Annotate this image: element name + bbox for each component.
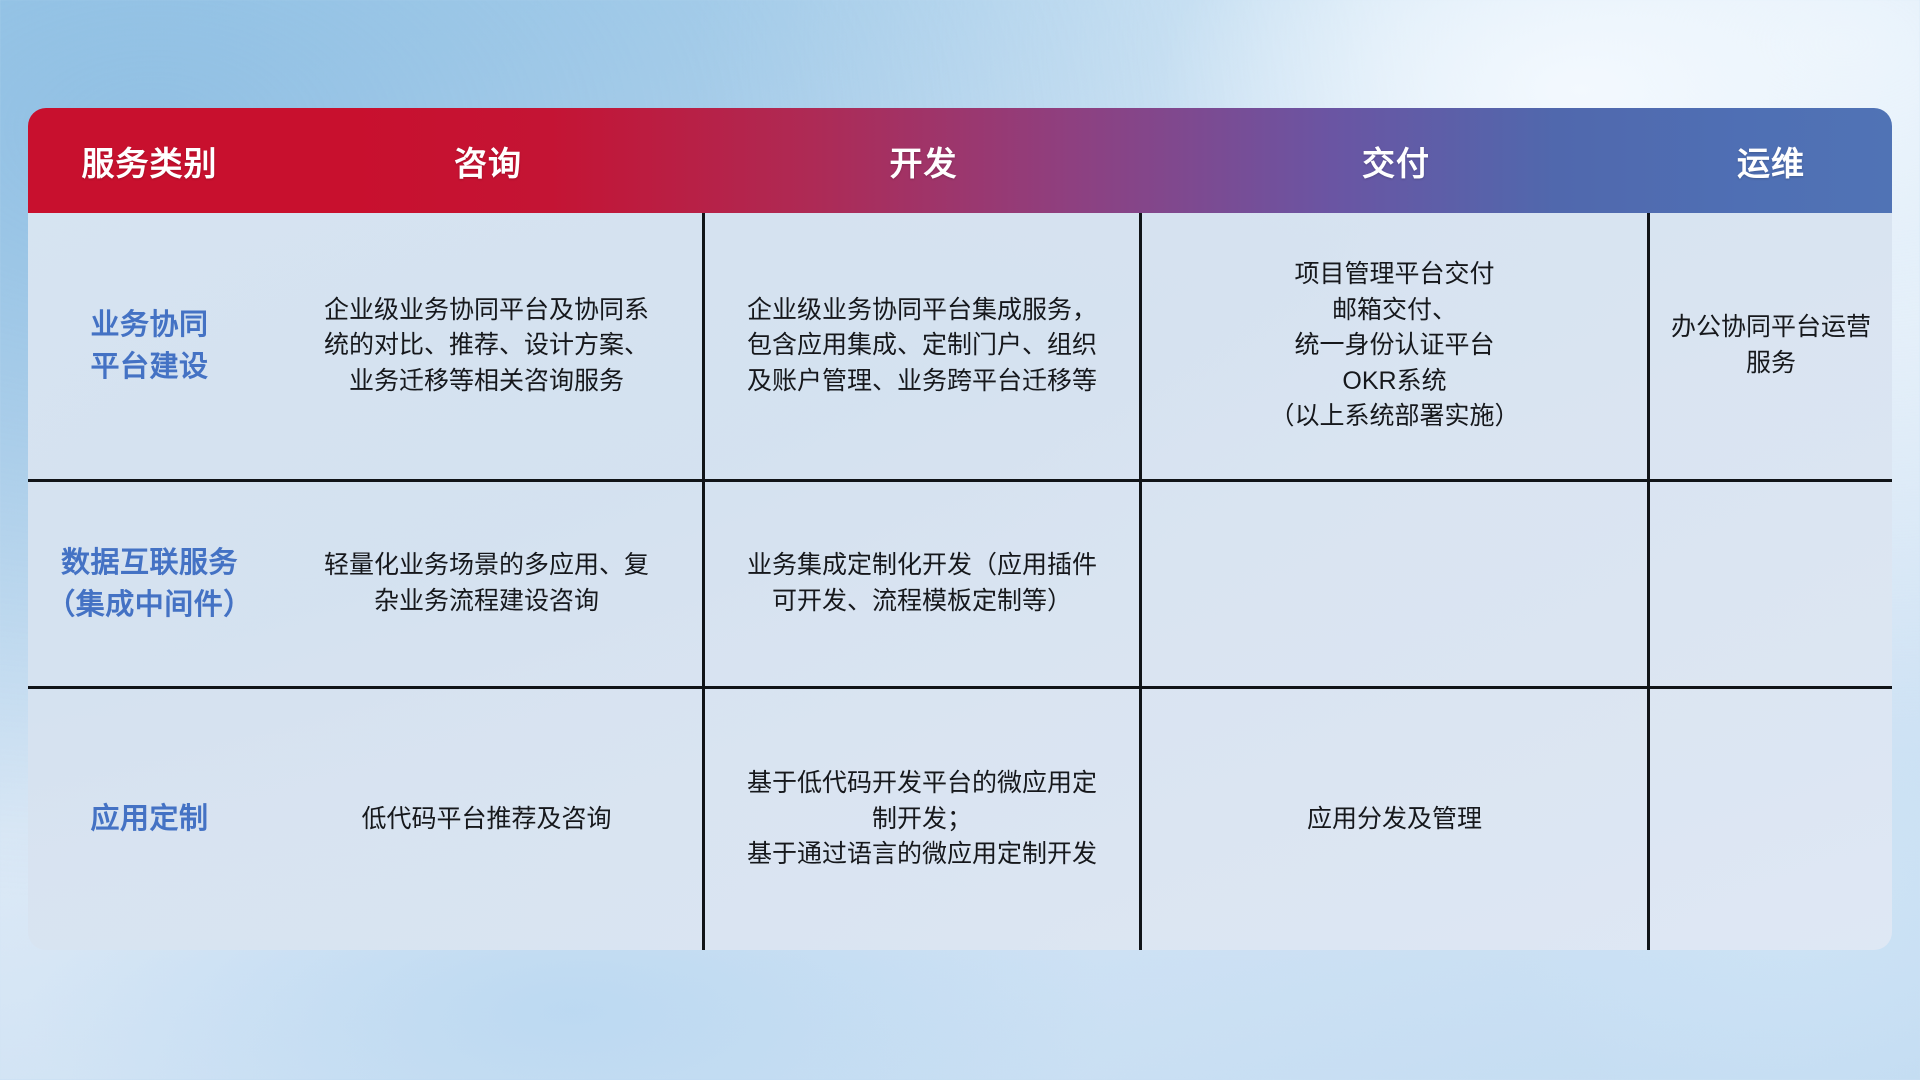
table-row: 应用定制 低代码平台推荐及咨询 基于低代码开发平台的微应用定 制开发； 基于通过… — [28, 686, 1892, 950]
column-header-consulting: 咨询 — [271, 108, 705, 213]
row-category-label: 业务协同 平台建设 — [28, 213, 271, 479]
cell-development: 基于低代码开发平台的微应用定 制开发； 基于通过语言的微应用定制开发 — [705, 689, 1142, 950]
cell-operations — [1650, 689, 1892, 950]
cell-delivery — [1142, 482, 1650, 686]
table-row: 业务协同 平台建设 企业级业务协同平台及协同系 统的对比、推荐、设计方案、 业务… — [28, 213, 1892, 479]
cell-operations: 办公协同平台运营服务 — [1650, 213, 1892, 479]
table-row: 数据互联服务 （集成中间件） 轻量化业务场景的多应用、复 杂业务流程建设咨询 业… — [28, 479, 1892, 686]
cell-development: 企业级业务协同平台集成服务， 包含应用集成、定制门户、组织 及账户管理、业务跨平… — [705, 213, 1142, 479]
column-header-operations: 运维 — [1650, 108, 1892, 213]
column-header-delivery: 交付 — [1142, 108, 1650, 213]
cell-operations — [1650, 482, 1892, 686]
cell-consulting: 企业级业务协同平台及协同系 统的对比、推荐、设计方案、 业务迁移等相关咨询服务 — [271, 213, 705, 479]
table-body: 业务协同 平台建设 企业级业务协同平台及协同系 统的对比、推荐、设计方案、 业务… — [28, 213, 1892, 950]
cell-consulting: 轻量化业务场景的多应用、复 杂业务流程建设咨询 — [271, 482, 705, 686]
cell-delivery: 项目管理平台交付 邮箱交付、 统一身份认证平台 OKR系统 （以上系统部署实施） — [1142, 213, 1650, 479]
column-header-service-category: 服务类别 — [28, 108, 271, 213]
row-category-label: 应用定制 — [28, 689, 271, 950]
table: 服务类别 咨询 开发 交付 运维 业务协同 平台建设 企业级业务协同平台及协同系… — [28, 108, 1892, 950]
row-category-label: 数据互联服务 （集成中间件） — [28, 482, 271, 686]
cell-development: 业务集成定制化开发（应用插件 可开发、流程模板定制等） — [705, 482, 1142, 686]
service-matrix-table: 服务类别 咨询 开发 交付 运维 业务协同 平台建设 企业级业务协同平台及协同系… — [28, 108, 1892, 950]
table-header-row: 服务类别 咨询 开发 交付 运维 — [28, 108, 1892, 213]
cell-consulting: 低代码平台推荐及咨询 — [271, 689, 705, 950]
column-header-development: 开发 — [705, 108, 1142, 213]
cell-delivery: 应用分发及管理 — [1142, 689, 1650, 950]
